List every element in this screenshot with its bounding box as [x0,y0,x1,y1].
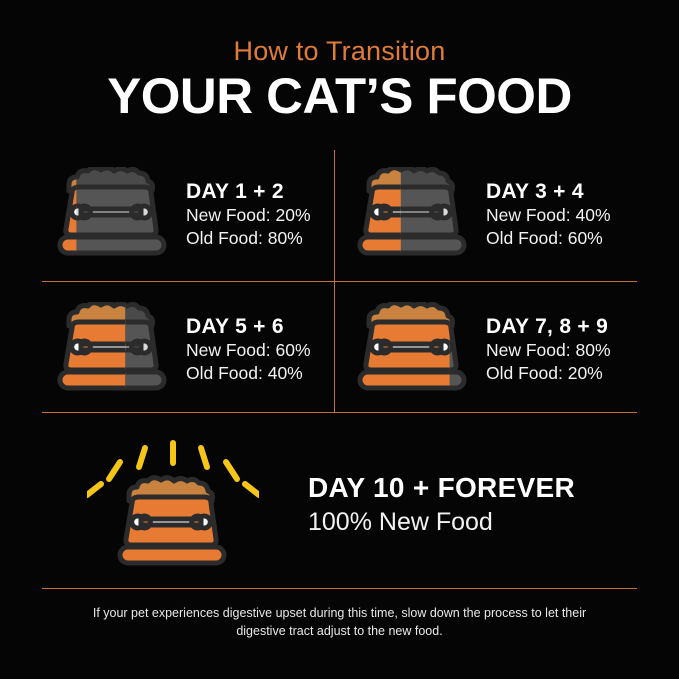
step-item-4: DAY 7, 8 + 9 New Food: 80% Old Food: 20% [348,300,628,400]
step-old-food: Old Food: 80% [186,227,311,250]
step-text-2: DAY 3 + 4 New Food: 40% Old Food: 60% [486,180,611,250]
step-new-food: New Food: 60% [186,339,311,362]
step-old-food: Old Food: 40% [186,362,311,385]
final-description: 100% New Food [308,506,575,539]
step-text-4: DAY 7, 8 + 9 New Food: 80% Old Food: 20% [486,315,611,385]
cat-food-bowl-icon [52,302,174,398]
cat-food-bowl-sunburst-icon [87,437,259,573]
step-day-label: DAY 5 + 6 [186,315,311,339]
step-item-1: DAY 1 + 2 New Food: 20% Old Food: 80% [48,165,328,265]
step-day-label: DAY 3 + 4 [486,180,611,204]
bowl-icon-container-final [48,437,298,573]
infographic-page: How to Transition YOUR CAT’S FOOD [0,0,679,679]
step-day-label: DAY 7, 8 + 9 [486,315,611,339]
disclaimer-text: If your pet experiences digestive upset … [78,604,601,640]
step-item-3: DAY 5 + 6 New Food: 60% Old Food: 40% [48,300,328,400]
bowl-icon-container-4 [348,302,478,398]
divider-horizontal-middle [42,412,637,413]
final-step-item: DAY 10 + FOREVER 100% New Food [48,435,638,575]
step-text-1: DAY 1 + 2 New Food: 20% Old Food: 80% [186,180,311,250]
final-step-text: DAY 10 + FOREVER 100% New Food [308,472,575,539]
cat-food-bowl-icon [352,167,474,263]
divider-horizontal-top [42,281,637,282]
step-old-food: Old Food: 60% [486,227,611,250]
step-item-2: DAY 3 + 4 New Food: 40% Old Food: 60% [348,165,628,265]
step-text-3: DAY 5 + 6 New Food: 60% Old Food: 40% [186,315,311,385]
final-day-label: DAY 10 + FOREVER [308,472,575,504]
page-subtitle: How to Transition [0,36,679,67]
divider-horizontal-bottom [42,588,637,589]
step-old-food: Old Food: 20% [486,362,611,385]
step-new-food: New Food: 20% [186,204,311,227]
step-day-label: DAY 1 + 2 [186,180,311,204]
page-title: YOUR CAT’S FOOD [0,70,679,123]
cat-food-bowl-icon [52,167,174,263]
divider-vertical [334,150,335,412]
cat-food-bowl-icon [352,302,474,398]
bowl-icon-container-1 [48,167,178,263]
step-new-food: New Food: 80% [486,339,611,362]
step-new-food: New Food: 40% [486,204,611,227]
bowl-icon-container-3 [48,302,178,398]
bowl-icon-container-2 [348,167,478,263]
